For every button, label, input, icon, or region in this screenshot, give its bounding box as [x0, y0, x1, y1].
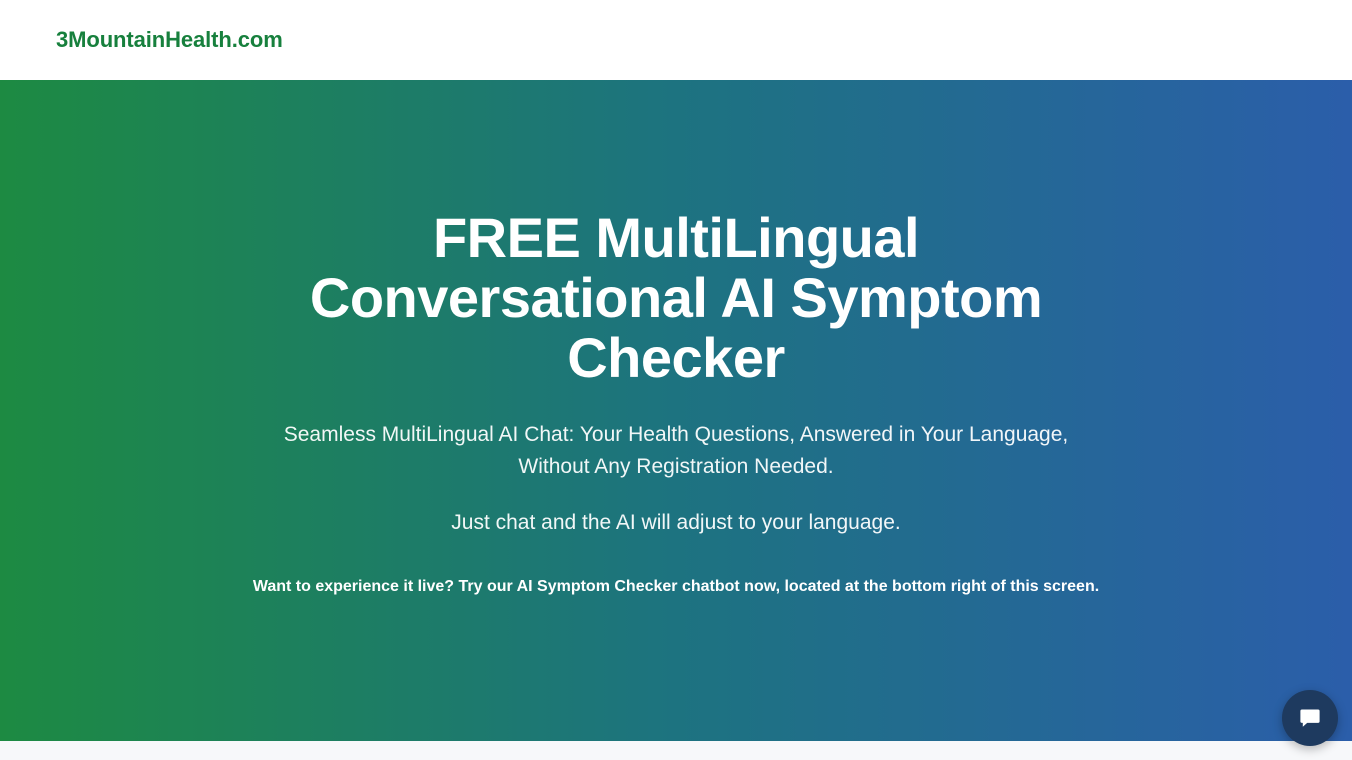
chat-bubble-icon: [1297, 705, 1323, 731]
hero-note: Just chat and the AI will adjust to your…: [261, 507, 1091, 539]
page-title: FREE MultiLingual Conversational AI Symp…: [256, 208, 1096, 388]
hero-content: FREE MultiLingual Conversational AI Symp…: [86, 80, 1266, 741]
hero-cta-text: Want to experience it live? Try our AI S…: [241, 573, 1111, 601]
chat-launcher-button[interactable]: [1282, 690, 1338, 746]
hero-section: FREE MultiLingual Conversational AI Symp…: [0, 80, 1352, 741]
hero-subtitle: Seamless MultiLingual AI Chat: Your Heal…: [261, 419, 1091, 483]
brand-logo[interactable]: 3MountainHealth.com: [56, 29, 283, 51]
footer-strip: [0, 741, 1352, 760]
page-root: 3MountainHealth.com FREE MultiLingual Co…: [0, 0, 1352, 760]
site-header: 3MountainHealth.com: [0, 0, 1352, 80]
